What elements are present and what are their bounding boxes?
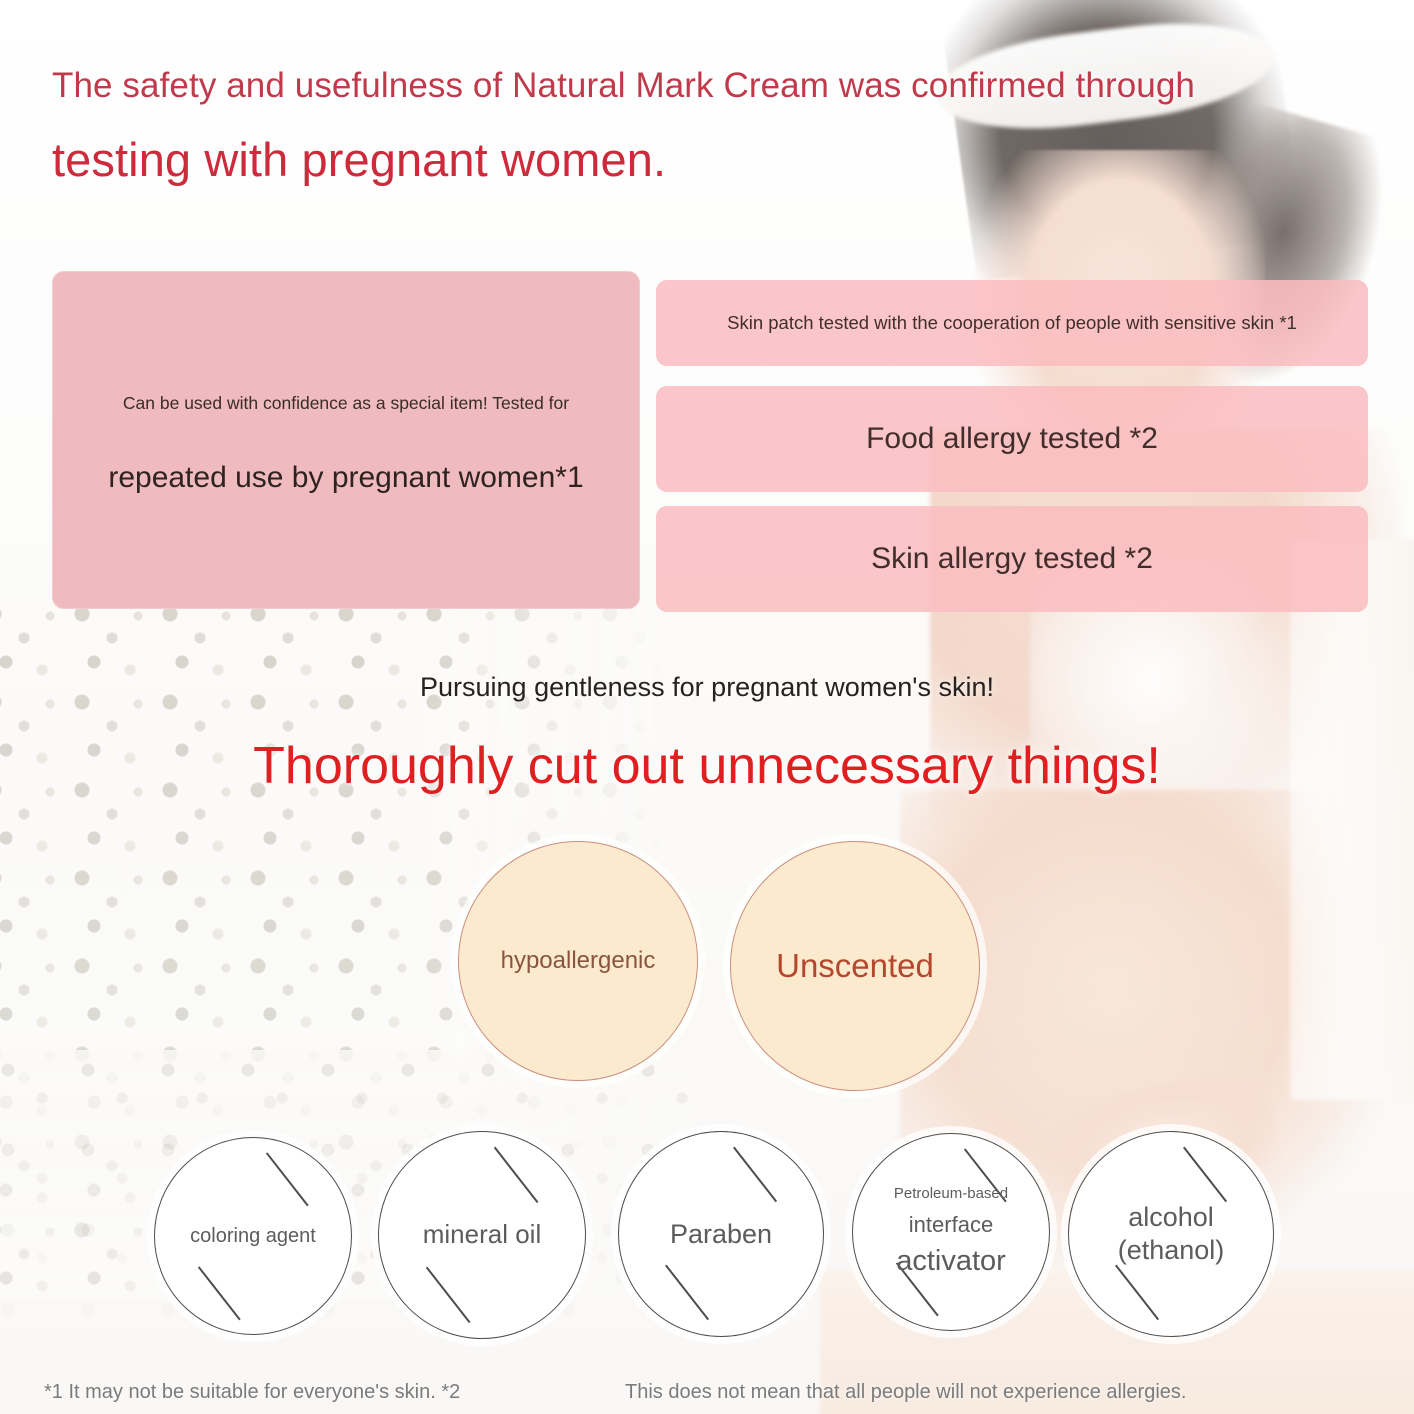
free-from-circle-mineral-oil: mineral oil: [378, 1131, 586, 1339]
middle-subtitle: Pursuing gentleness for pregnant women's…: [0, 672, 1414, 703]
free-from-label-line-3: activator: [894, 1244, 1008, 1279]
strike-line-icon: [426, 1267, 470, 1323]
free-from-label: Paraben: [670, 1218, 772, 1251]
feature-circle-label: hypoallergenic: [501, 947, 656, 975]
free-from-label: alcohol (ethanol): [1118, 1201, 1225, 1267]
free-from-label: Petroleum-based interface activator: [894, 1185, 1008, 1280]
strike-line-icon: [733, 1147, 777, 1203]
test-bar-food-allergy: Food allergy tested *2: [656, 386, 1368, 492]
free-from-circle-coloring-agent: coloring agent: [154, 1137, 352, 1335]
free-from-circle-paraben: Paraben: [618, 1131, 824, 1337]
free-from-label-line-1: Petroleum-based: [894, 1185, 1008, 1203]
free-from-circle-surfactant: Petroleum-based interface activator: [852, 1133, 1050, 1331]
strike-line-icon: [1183, 1147, 1227, 1203]
feature-circle-unscented: Unscented: [730, 841, 980, 1091]
test-bar-skin-allergy: Skin allergy tested *2: [656, 506, 1368, 612]
footnote-left: *1 It may not be suitable for everyone's…: [44, 1381, 460, 1404]
strike-line-icon: [1115, 1265, 1159, 1321]
headline-line-1: The safety and usefulness of Natural Mar…: [52, 66, 1282, 106]
strike-line-icon: [494, 1147, 538, 1203]
headline-line-2: testing with pregnant women.: [52, 132, 1282, 187]
free-from-label-line-1: alcohol: [1128, 1202, 1214, 1232]
free-from-label: coloring agent: [190, 1224, 316, 1248]
footnote-right: This does not mean that all people will …: [625, 1381, 1186, 1404]
middle-headline: Thoroughly cut out unnecessary things!: [0, 736, 1414, 796]
strike-line-icon: [266, 1152, 308, 1205]
product-info-graphic: The safety and usefulness of Natural Mar…: [0, 0, 1414, 1414]
free-from-label-line-2: (ethanol): [1118, 1235, 1225, 1265]
free-from-label: mineral oil: [423, 1219, 542, 1251]
test-bar-skin-patch: Skin patch tested with the cooperation o…: [656, 280, 1368, 366]
panel-small-text: Can be used with confidence as a special…: [52, 393, 640, 414]
free-from-label-line-2: interface: [894, 1212, 1008, 1239]
main-headline: The safety and usefulness of Natural Mar…: [52, 66, 1282, 187]
strike-line-icon: [198, 1266, 240, 1319]
pregnant-women-test-panel: Can be used with confidence as a special…: [52, 271, 640, 609]
free-from-circle-alcohol: alcohol (ethanol): [1068, 1131, 1274, 1337]
strike-line-icon: [665, 1265, 709, 1321]
feature-circle-label: Unscented: [776, 947, 934, 985]
panel-big-text: repeated use by pregnant women*1: [52, 461, 640, 495]
feature-circle-hypoallergenic: hypoallergenic: [458, 841, 698, 1081]
